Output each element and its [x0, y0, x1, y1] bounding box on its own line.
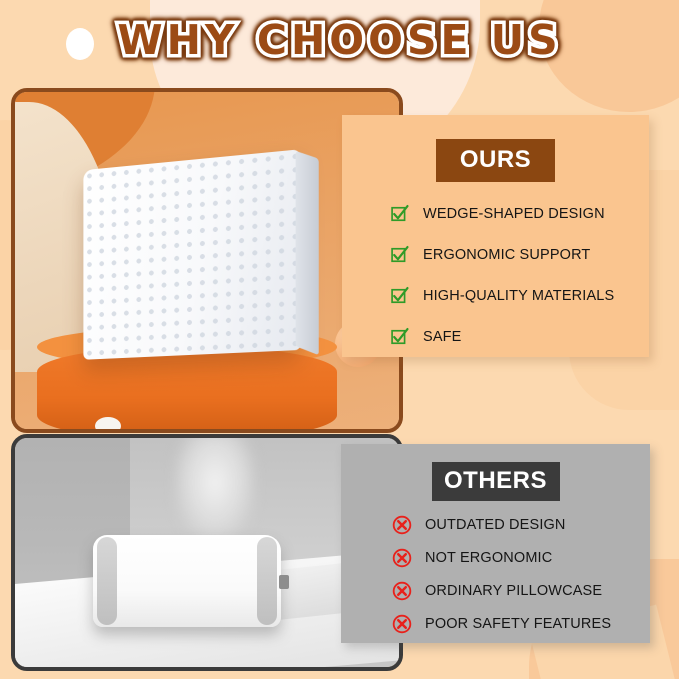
ours-panel: OURS WEDGE-SHAPED DESIGN ERGONOMIC SUPPO…: [342, 115, 649, 357]
list-item-label: ORDINARY PILLOWCASE: [425, 583, 602, 599]
blurred-highlight: [175, 438, 255, 543]
list-item: SAFE: [390, 327, 649, 347]
list-item-label: POOR SAFETY FEATURES: [425, 616, 611, 632]
white-pebble-prop: [95, 417, 121, 429]
cross-circle-icon: [392, 548, 412, 568]
list-item-label: WEDGE-SHAPED DESIGN: [423, 206, 605, 222]
why-choose-us-infographic: WHY CHOOSE US OU: [0, 0, 679, 679]
ours-feature-list: WEDGE-SHAPED DESIGN ERGONOMIC SUPPORT HI…: [342, 204, 649, 347]
ours-heading: OURS: [436, 139, 555, 182]
check-icon: [390, 286, 410, 306]
orange-podium: [37, 346, 337, 429]
cross-circle-icon: [392, 614, 412, 634]
others-feature-list: OUTDATED DESIGN NOT ERGONOMIC ORDINARY P…: [341, 515, 650, 634]
ordinary-contour-pillow: [93, 535, 281, 627]
check-icon: [390, 245, 410, 265]
others-panel: OTHERS OUTDATED DESIGN NOT ERGONOMIC: [341, 444, 650, 643]
list-item-label: OUTDATED DESIGN: [425, 517, 566, 533]
list-item: ORDINARY PILLOWCASE: [392, 581, 650, 601]
page-title: WHY CHOOSE US: [117, 16, 561, 64]
list-item: HIGH-QUALITY MATERIALS: [390, 286, 649, 306]
list-item: NOT ERGONOMIC: [392, 548, 650, 568]
pillow-tag: [279, 575, 289, 589]
page-title-wrap: WHY CHOOSE US: [0, 16, 679, 64]
cross-circle-icon: [392, 515, 412, 535]
list-item-label: SAFE: [423, 329, 461, 345]
list-item-label: NOT ERGONOMIC: [425, 550, 552, 566]
list-item: OUTDATED DESIGN: [392, 515, 650, 535]
check-icon: [390, 204, 410, 224]
check-icon: [390, 327, 410, 347]
wedge-pillow: [83, 149, 300, 360]
list-item: WEDGE-SHAPED DESIGN: [390, 204, 649, 224]
list-item-label: HIGH-QUALITY MATERIALS: [423, 288, 614, 304]
list-item-label: ERGONOMIC SUPPORT: [423, 247, 590, 263]
list-item: ERGONOMIC SUPPORT: [390, 245, 649, 265]
list-item: POOR SAFETY FEATURES: [392, 614, 650, 634]
others-heading: OTHERS: [432, 462, 560, 501]
wedge-pillow-side: [296, 151, 319, 355]
cross-circle-icon: [392, 581, 412, 601]
